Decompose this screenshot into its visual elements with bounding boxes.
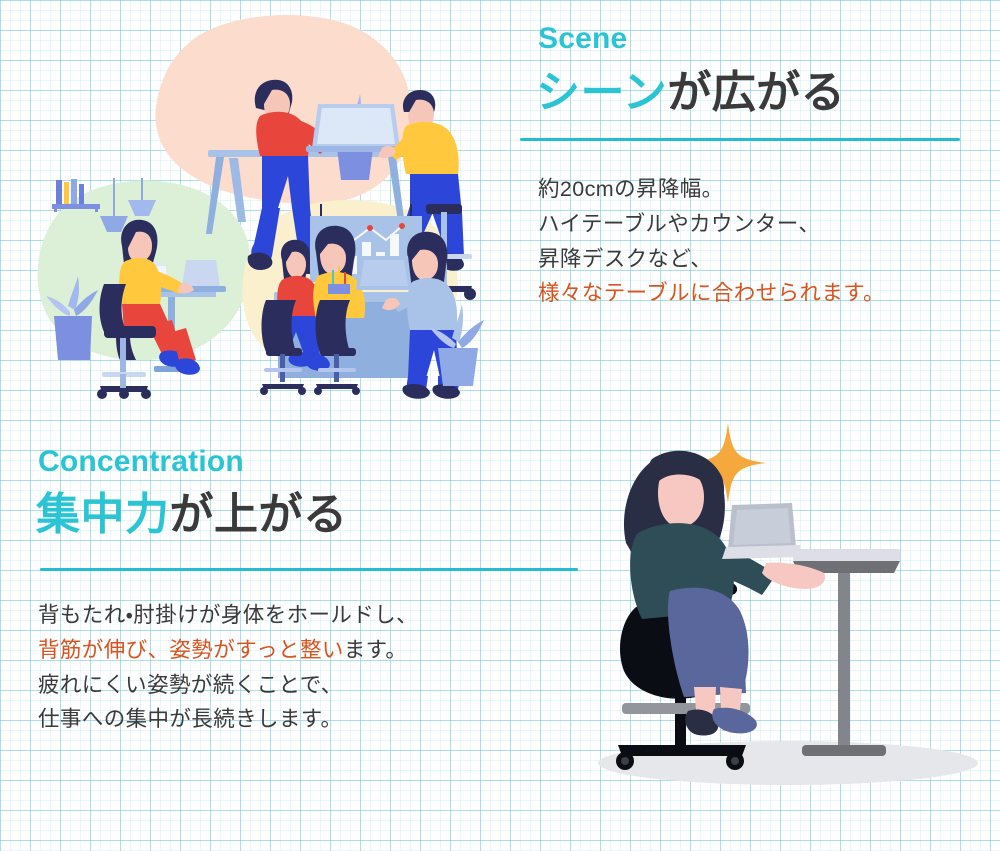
headline-accent-scene: シーン [536,68,667,117]
headline-rest-concentration: が上がる [170,490,348,539]
section-divider-scene [520,138,960,141]
section-eyebrow-concentration: Concentration [38,447,244,477]
body-line: 背もたれ・肘掛けが身体をホールドし、 [38,598,418,633]
laptop-on-desk [306,104,404,152]
section-body-concentration: 背もたれ・肘掛けが身体をホールドし、 背筋が伸び、姿勢がすっと整います。 疲れに… [38,598,418,737]
headline-rest-scene: が広がる [667,68,845,117]
body-line-accent: 背筋が伸び、姿勢がすっと整い [38,638,344,662]
section-divider-concentration [40,568,578,571]
body-line-accent: 様々なテーブルに合わせられます。 [538,276,885,311]
body-line: 昇降デスクなど、 [538,242,885,277]
section-body-scene: 約20cmの昇降幅。 ハイテーブルやカウンター、 昇降デスクなど、 様々なテーブ… [538,172,885,311]
laptop [722,503,802,559]
body-line-tail: ます。 [344,638,408,662]
illustration-office-scenes-collage [20,8,490,403]
body-line: 約20cmの昇降幅。 [538,172,885,207]
laptop-counter [356,256,412,290]
section-headline-concentration: 集中力が上がる [36,490,348,539]
illustration-woman-on-high-chair-at-standing-desk [580,415,990,815]
section-headline-scene: シーンが広がる [536,68,845,117]
body-line: ハイテーブルやカウンター、 [538,207,885,242]
section-eyebrow-scene: Scene [538,24,627,54]
body-line: 疲れにくい姿勢が続くことで、 [38,668,418,703]
body-line-mixed: 背筋が伸び、姿勢がすっと整います。 [38,633,418,668]
body-line: 仕事への集中が長続きします。 [38,702,418,737]
headline-accent-concentration: 集中力 [36,490,170,539]
infographic-page: Scene シーンが広がる 約20cmの昇降幅。 ハイテーブルやカウンター、 昇… [0,0,1000,851]
